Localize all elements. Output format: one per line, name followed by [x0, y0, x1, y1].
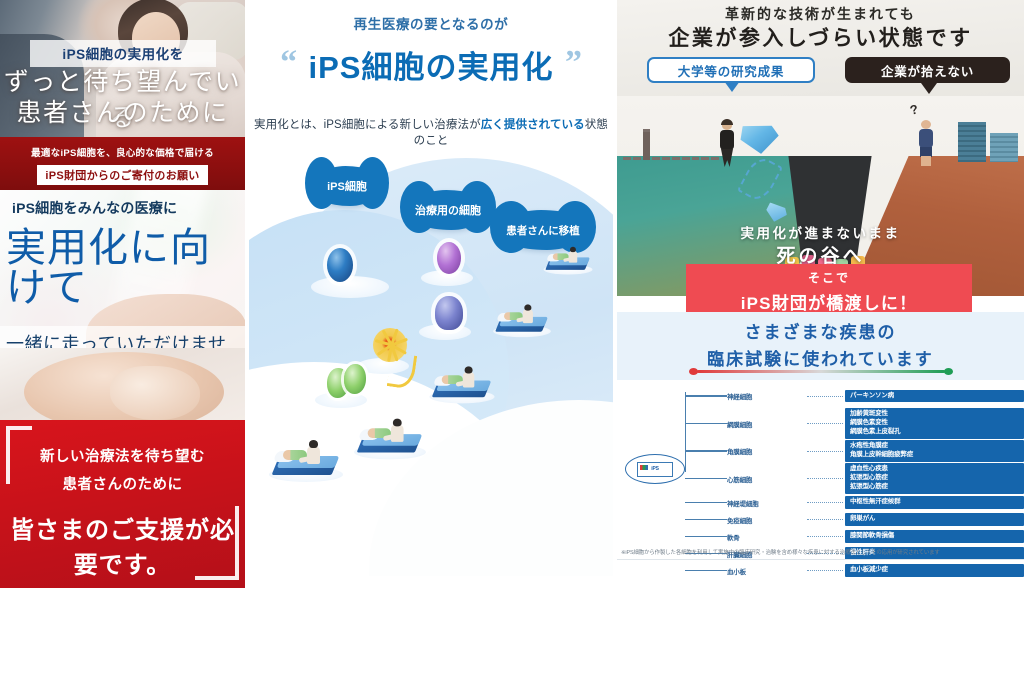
flow-label-ips-cell: iPS細胞: [311, 166, 383, 206]
lead-part-before: 実用化とは、iPS細胞による新しい治療法が: [254, 119, 481, 131]
businesswoman-figure: [918, 120, 934, 166]
university-buildings-icon: [623, 136, 719, 160]
disease-label: 血小板減少症: [845, 564, 1024, 577]
center-lead-text: 実用化とは、iPS細胞による新しい治療法が広く提供されている状態のこと: [249, 116, 613, 148]
row-dotted-line: [807, 570, 843, 571]
middle-headline: 実用化に向けて: [0, 228, 245, 308]
hands-photo: [0, 348, 245, 420]
chip-university-label: 大学等の研究成果: [678, 61, 784, 80]
donation-red-bar: 最適なiPS細胞を、良心的な価格で届ける iPS財団からのご寄付のお願い: [0, 137, 245, 190]
donation-button-label[interactable]: iPS財団からのご寄付のお願い: [37, 165, 207, 185]
cell-platform-ips: [311, 276, 389, 298]
hospital-bed-1: [544, 245, 593, 274]
row-connector: [685, 536, 727, 537]
corporate-buildings-icon: [958, 122, 1018, 162]
chip-university-research: 大学等の研究成果: [647, 57, 815, 83]
diagram-row: 網膜細胞 加齢黄斑変性 網膜色素変性 網膜色素上皮裂孔: [685, 408, 1024, 439]
row-dotted-line: [807, 451, 843, 452]
disease-label: 加齢黄斑変性 網膜色素変性 網膜色素上皮裂孔: [845, 408, 1024, 438]
purple-cell-icon: [437, 242, 461, 274]
flow-label-transplant-text: 患者さんに移植: [506, 223, 580, 238]
row-dotted-line: [807, 423, 843, 424]
row-dotted-line: [807, 396, 843, 397]
cell-type-label: 心筋細胞: [727, 474, 805, 484]
bridge-line-2: iPS財団が橋渡しに！: [686, 286, 972, 314]
diagram-row: 角膜細胞 水疱性角膜症 角膜上皮幹細胞疲弊症: [685, 439, 1024, 463]
chip-company-cannot-pick: 企業が拾えない: [845, 57, 1010, 83]
green-cell-icon-2: [344, 364, 366, 394]
disease-label: パーキンソン病: [845, 390, 1024, 403]
diagram-row: 神経堤細胞 中枢性無汗症候群: [685, 494, 1024, 511]
bracket-bottom-right: [195, 506, 239, 580]
middle-eyebrow: iPS細胞をみんなの医療に: [0, 198, 245, 218]
cell-type-label: 軟骨: [727, 532, 805, 542]
support-cta-block: 新しい治療法を待ち望む 患者さんのために 皆さまのご支援が必要です。: [0, 420, 245, 588]
flow-label-transplant: 患者さんに移植: [497, 210, 589, 250]
chip-company-pointer-icon: [921, 83, 937, 94]
diagram-row: 血小板 血小板減少症: [685, 562, 1024, 578]
flow-label-ips-cell-text: iPS細胞: [327, 178, 367, 194]
ips-cell-icon: [327, 248, 353, 282]
row-connector: [685, 570, 727, 571]
center-title-row: “ iPS細胞の実用化 ”: [249, 42, 613, 87]
hospital-bed-5: [269, 438, 343, 482]
cell-type-label: 網膜細胞: [727, 419, 805, 429]
disease-application-diagram: iPS 神経細胞 パーキンソン病 網膜細胞 加齢黄斑変性 網膜色素変性 網膜色素…: [617, 380, 1024, 560]
disease-label: 水疱性角膜症 角膜上皮幹細胞疲弊症: [845, 440, 1024, 462]
gradient-arrow-icon: [689, 368, 953, 375]
diagram-row: 免疫細胞 卵巣がん: [685, 511, 1024, 528]
clinical-trials-line-2: 臨床試験に使われています: [617, 343, 1024, 370]
chip-university-pointer-icon: [724, 81, 740, 92]
row-dotted-line: [807, 502, 843, 503]
hospital-bed-2: [493, 303, 551, 337]
row-dotted-line: [807, 519, 843, 520]
cell-type-label: 血小板: [727, 566, 805, 576]
center-illustration: iPS細胞 治療用の細胞 患者さんに移植: [249, 150, 613, 576]
hospital-bed-4: [354, 417, 426, 460]
flow-label-therapeutic-cell: 治療用の細胞: [407, 190, 489, 230]
disease-label: 膝関節軟骨損傷: [845, 530, 1024, 543]
cell-type-label: 角膜細胞: [727, 446, 805, 456]
flow-label-therapeutic-cell-text: 治療用の細胞: [415, 202, 481, 218]
disease-label: 虚血性心疾患 拡張型心筋症 拡張型心筋症: [845, 463, 1024, 493]
donation-subtitle: 最適なiPS細胞を、良心的な価格で届ける: [0, 137, 245, 159]
bridge-line-1: そこで: [686, 264, 972, 286]
cell-type-label: 免疫細胞: [727, 515, 805, 525]
row-connector: [685, 502, 727, 503]
neuron-cell-icon: [373, 328, 407, 362]
hospital-bed-3: [429, 365, 494, 404]
center-infographic-panel: 再生医療の要となるのが “ iPS細胞の実用化 ” 実用化とは、iPS細胞による…: [249, 0, 613, 576]
row-connector: [685, 450, 727, 451]
cell-type-label: 神経堤細胞: [727, 498, 805, 508]
chip-company-label: 企業が拾えない: [881, 61, 974, 80]
cta-line-1: 新しい治療法を待ち望む: [0, 420, 245, 466]
center-eyebrow: 再生医療の要となるのが: [249, 13, 613, 33]
row-connector: [685, 423, 727, 424]
indigo-cell-icon: [435, 296, 463, 330]
bottom-hairline: [617, 559, 1024, 560]
cta-line-2: 患者さんのために: [0, 466, 245, 494]
diagram-row: 心筋細胞 虚血性心疾患 拡張型心筋症 拡張型心筋症: [685, 463, 1024, 494]
disease-label: 卵巣がん: [845, 513, 1024, 526]
right-infographic-panel: 革新的な技術が生まれても 企業が参入しづらい状態です 大学等の研究成果 企業が拾…: [617, 0, 1024, 578]
diagram-row: 神経細胞 パーキンソン病: [685, 384, 1024, 408]
right-headline-small: 革新的な技術が生まれても: [617, 4, 1024, 24]
row-connector: [685, 478, 727, 479]
quote-close-icon: ”: [565, 44, 582, 81]
screenshot-root: iPS細胞の実用化を ずっと待ち望んでいる 患者さんのために 最適なiPS細胞を…: [0, 0, 1024, 674]
valley-caption-line-1: 実用化が進まないまま: [617, 222, 1024, 242]
right-headline-large: 企業が参入しづらい状態です: [617, 22, 1024, 52]
ips-logo-mark: iPS: [637, 462, 673, 477]
researcher-figure: [719, 121, 735, 167]
cell-type-label: 神経細胞: [727, 391, 805, 401]
ips-foundation-logo: iPS: [625, 454, 685, 484]
quote-open-icon: “: [280, 44, 297, 81]
row-connector: [685, 395, 727, 396]
clinical-trials-band: さまざまな疾患の 臨床試験に使われています: [617, 312, 1024, 380]
hand-shape: [110, 366, 200, 420]
row-dotted-line: [807, 478, 843, 479]
diagram-footnote: ※iPS細胞から作製した各細胞を利用して実施中の臨床研究・治験を含め様々な疾患に…: [621, 548, 1020, 556]
diagram-row: 軟骨 膝関節軟骨損傷: [685, 528, 1024, 545]
row-connector: [685, 519, 727, 520]
bracket-top-left: [6, 426, 32, 484]
clinical-trials-line-1: さまざまな疾患の: [617, 312, 1024, 343]
hero-line-2: 患者さんのために: [0, 93, 245, 129]
disease-label: 中枢性無汗症候群: [845, 496, 1024, 509]
bridge-red-band: そこで iPS財団が橋渡しに！: [686, 264, 972, 312]
left-poster-panel: iPS細胞の実用化を ずっと待ち望んでいる 患者さんのために 最適なiPS細胞を…: [0, 0, 245, 588]
center-title: iPS細胞の実用化: [309, 42, 554, 87]
row-dotted-line: [807, 536, 843, 537]
lead-highlight: 広く提供されている: [481, 119, 585, 131]
